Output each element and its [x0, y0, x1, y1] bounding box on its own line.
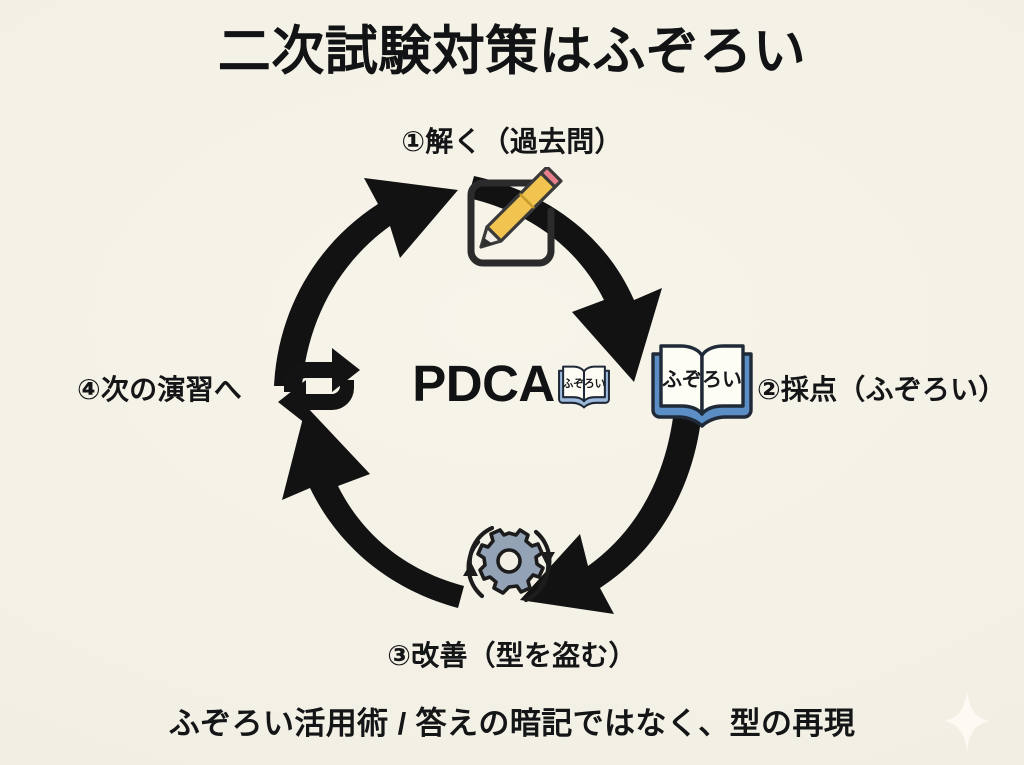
- open-book-icon: ふぞろい: [647, 338, 757, 430]
- gear-refresh-icon: [452, 508, 566, 620]
- step-label-2: ②採点（ふぞろい）: [757, 368, 1007, 408]
- repeat-loop-icon: [268, 338, 370, 430]
- step-label-3: ③改善（型を盗む）: [0, 634, 1024, 674]
- arrow-bottom-left: [282, 406, 464, 608]
- node-step-1: [457, 167, 565, 275]
- node-step-2: ふぞろい: [647, 338, 757, 430]
- slide-canvas: 二次試験対策はふぞろい: [0, 0, 1024, 765]
- book-label: ふぞろい: [662, 369, 742, 391]
- node-step-4: [268, 338, 370, 430]
- footer-caption: ふぞろい活用術 / 答えの暗記ではなく、型の再現: [0, 698, 1024, 743]
- pdca-cycle-diagram: ふぞろい: [0, 0, 1024, 765]
- memo-pencil-icon: [457, 167, 565, 275]
- node-step-3: [452, 508, 566, 620]
- step-label-1: ①解く（過去問）: [0, 120, 1024, 160]
- step-label-4: ④次の演習へ: [77, 368, 242, 408]
